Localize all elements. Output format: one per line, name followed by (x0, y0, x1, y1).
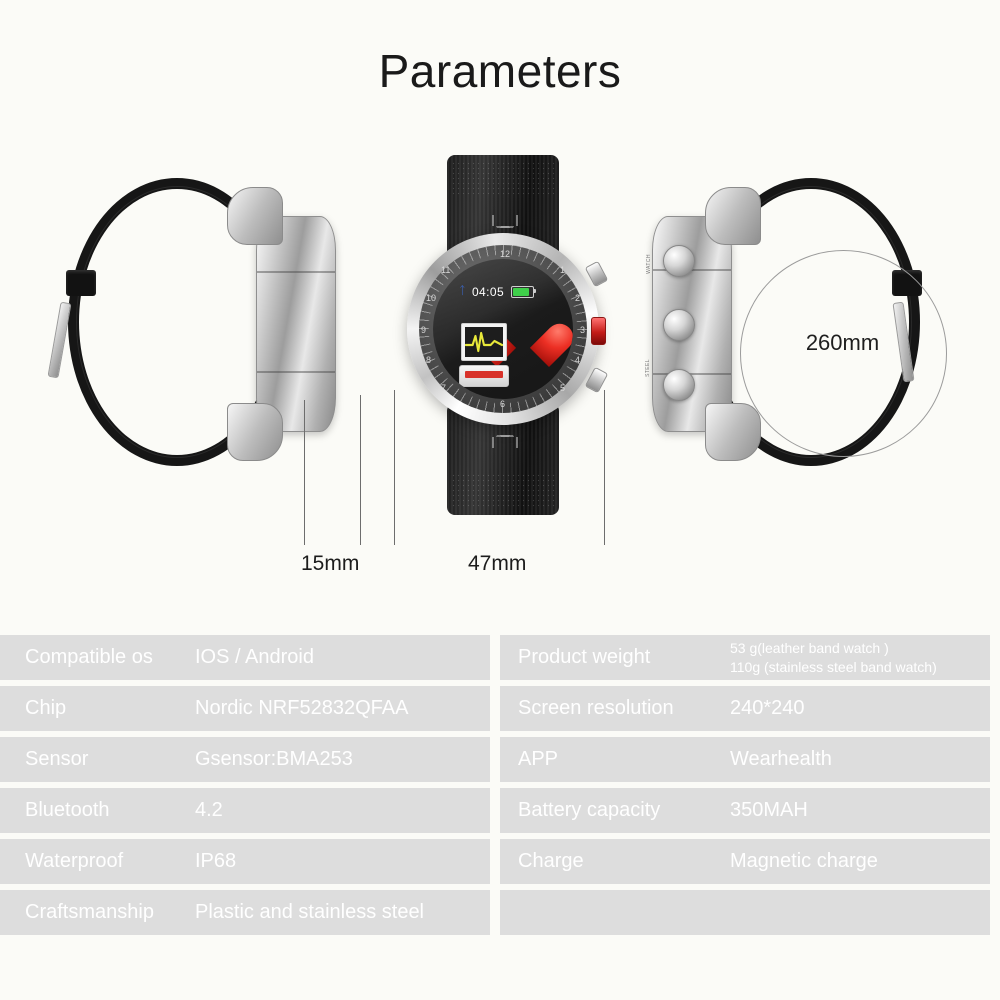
spec-key: Compatible os (0, 646, 195, 669)
leader-line-case-a (394, 390, 395, 545)
case-engraving-top: WATCH (646, 254, 652, 274)
watch-lug-top-left (227, 187, 283, 245)
spec-row: ChargeMagnetic charge (500, 839, 990, 884)
spec-value: Nordic NRF52832QFAA (195, 697, 490, 720)
spec-row: CraftsmanshipPlastic and stainless steel (0, 890, 490, 935)
bezel-numeral-8: 8 (426, 355, 431, 365)
bluetooth-icon: ᛏ (459, 286, 466, 297)
bezel-numeral-5: 5 (560, 383, 565, 393)
case-groove-upper (257, 271, 335, 273)
bezel-numeral-7: 7 (441, 383, 446, 393)
spec-row: Battery capacity350MAH (500, 788, 990, 833)
spec-row: Compatible osIOS / Android (0, 635, 490, 680)
leader-line-band-width-b (360, 395, 361, 545)
watch-crown-button[interactable] (591, 317, 606, 345)
spec-value: Gsensor:BMA253 (195, 748, 490, 771)
watch-status-bar: ᛏ 04:05 (433, 285, 573, 299)
spec-key: Craftsmanship (0, 901, 195, 924)
pusher-button-bottom[interactable] (663, 369, 695, 401)
ecg-waveform-icon (465, 327, 503, 357)
chevron-marker-top-icon (492, 215, 518, 226)
spec-value: 350MAH (730, 799, 990, 822)
spec-value: 240*240 (730, 697, 990, 720)
dimension-label-15mm: 15mm (301, 552, 359, 576)
strap-texture-top (451, 161, 555, 195)
spec-row: WaterproofIP68 (0, 839, 490, 884)
bezel-numeral-2: 2 (575, 293, 580, 303)
spec-key: Product weight (500, 646, 730, 669)
bezel-numeral-3: 3 (580, 325, 585, 335)
specification-table: Compatible osIOS / AndroidChipNordic NRF… (0, 635, 1000, 945)
leader-line-case-b (604, 390, 605, 545)
spec-value: 4.2 (195, 799, 490, 822)
heart-ecg-monitor-icon (455, 321, 551, 391)
spec-value: Wearhealth (730, 748, 990, 771)
spec-row (500, 890, 990, 935)
bezel-numeral-9: 9 (421, 325, 426, 335)
spec-row: Screen resolution240*240 (500, 686, 990, 731)
watch-lug-bottom-left (227, 403, 283, 461)
strap-texture-bottom (451, 473, 555, 507)
watch-button-top[interactable] (585, 261, 609, 287)
spec-key: Sensor (0, 748, 195, 771)
watch-screen[interactable]: ᛏ 04:05 (433, 259, 573, 399)
monitor-base-stripe (465, 371, 503, 378)
pusher-button-middle[interactable] (663, 309, 695, 341)
bezel-numeral-12: 12 (500, 249, 510, 259)
spec-key: Charge (500, 850, 730, 873)
page-title: Parameters (0, 44, 1000, 98)
spec-row: SensorGsensor:BMA253 (0, 737, 490, 782)
spec-key: Screen resolution (500, 697, 730, 720)
case-groove-lower (257, 371, 335, 373)
spec-column-left: Compatible osIOS / AndroidChipNordic NRF… (0, 635, 490, 941)
spec-row: Bluetooth4.2 (0, 788, 490, 833)
watch-front-view: 12 1 2 3 4 5 6 7 8 9 10 11 ᛏ 04:05 (395, 155, 610, 515)
spec-key: Chip (0, 697, 195, 720)
battery-icon (511, 286, 534, 298)
spec-key: Waterproof (0, 850, 195, 873)
spec-row: APPWearhealth (500, 737, 990, 782)
monitor-screen (461, 323, 507, 361)
dimension-label-47mm: 47mm (468, 552, 526, 576)
ecg-monitor-icon (459, 323, 509, 387)
spec-key: Bluetooth (0, 799, 195, 822)
spec-key: APP (500, 748, 730, 771)
watch-case-front: 12 1 2 3 4 5 6 7 8 9 10 11 ᛏ 04:05 (407, 233, 599, 425)
bezel-numeral-6: 6 (500, 399, 505, 409)
chevron-marker-bottom-icon (492, 437, 518, 448)
spec-row: Product weight53 g(leather band watch ) … (500, 635, 990, 680)
spec-value: 53 g(leather band watch ) 110g (stainles… (730, 639, 990, 677)
spec-column-right: Product weight53 g(leather band watch ) … (500, 635, 990, 941)
spec-value: Magnetic charge (730, 850, 990, 873)
product-hero: WATCH STEEL 260mm 12 1 2 3 4 5 6 7 8 9 (0, 140, 1000, 620)
watch-case-side-left (256, 216, 336, 432)
dimension-label-260mm: 260mm (740, 330, 945, 356)
bezel-numeral-4: 4 (575, 355, 580, 365)
watch-side-view-left (60, 160, 360, 500)
pusher-button-top[interactable] (663, 245, 695, 277)
spec-value: IP68 (195, 850, 490, 873)
spec-value: IOS / Android (195, 646, 490, 669)
monitor-screen-inner (465, 327, 503, 357)
spec-key: Battery capacity (500, 799, 730, 822)
strap-buckle-left (66, 270, 96, 296)
spec-row: ChipNordic NRF52832QFAA (0, 686, 490, 731)
watch-lug-bottom-right (705, 403, 761, 461)
watch-clock: 04:05 (472, 285, 504, 299)
leader-line-band-width-a (304, 400, 305, 545)
watch-lug-top-right (705, 187, 761, 245)
monitor-base (459, 365, 509, 387)
spec-value: Plastic and stainless steel (195, 901, 490, 924)
case-engraving-bottom: STEEL (645, 359, 651, 377)
watch-case-side-right: WATCH STEEL (652, 216, 732, 432)
